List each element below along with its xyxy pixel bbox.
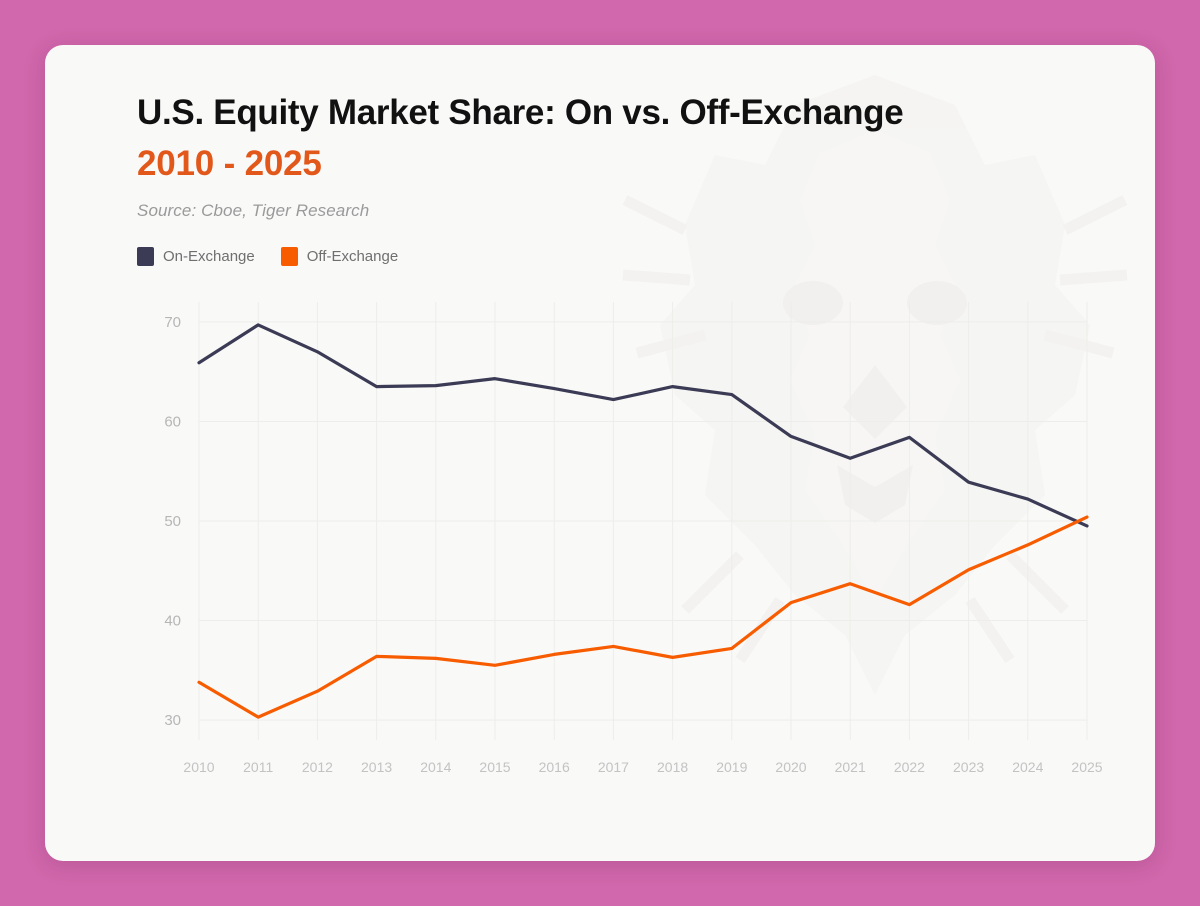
y-tick-label: 40 <box>164 612 181 629</box>
source-note: Source: Cboe, Tiger Research <box>137 201 1099 221</box>
chart-legend: On-Exchange Off-Exchange <box>137 247 1099 266</box>
legend-swatch-icon <box>137 247 154 266</box>
series-line-on-exchange[interactable] <box>199 325 1087 526</box>
x-tick-label: 2025 <box>1071 759 1102 775</box>
x-tick-label: 2022 <box>894 759 925 775</box>
x-tick-label: 2019 <box>716 759 747 775</box>
y-axis-tick-labels: 3040506070 <box>164 314 181 729</box>
x-tick-label: 2023 <box>953 759 984 775</box>
y-tick-label: 30 <box>164 712 181 729</box>
x-tick-label: 2020 <box>775 759 806 775</box>
legend-item-off-exchange[interactable]: Off-Exchange <box>281 247 398 266</box>
card-content: U.S. Equity Market Share: On vs. Off-Exc… <box>45 45 1155 861</box>
x-tick-label: 2014 <box>420 759 451 775</box>
legend-swatch-icon <box>281 247 298 266</box>
horizontal-gridlines <box>199 322 1087 720</box>
legend-label: On-Exchange <box>163 248 255 265</box>
x-tick-label: 2021 <box>835 759 866 775</box>
x-tick-label: 2016 <box>539 759 570 775</box>
x-tick-label: 2018 <box>657 759 688 775</box>
series-line-off-exchange[interactable] <box>199 517 1087 717</box>
y-tick-label: 60 <box>164 413 181 430</box>
page-subtitle: 2010 - 2025 <box>137 145 1099 184</box>
x-axis-tick-labels: 2010201120122013201420152016201720182019… <box>183 759 1102 775</box>
chart-card: U.S. Equity Market Share: On vs. Off-Exc… <box>45 45 1155 861</box>
y-tick-label: 70 <box>164 314 181 331</box>
line-chart: 3040506070 20102011201220132014201520162… <box>137 288 1097 788</box>
page-root: U.S. Equity Market Share: On vs. Off-Exc… <box>0 0 1200 906</box>
y-tick-label: 50 <box>164 513 181 530</box>
x-tick-label: 2024 <box>1012 759 1043 775</box>
x-tick-label: 2013 <box>361 759 392 775</box>
chart-plot-area: 3040506070 20102011201220132014201520162… <box>137 288 1097 788</box>
x-tick-label: 2010 <box>183 759 214 775</box>
legend-item-on-exchange[interactable]: On-Exchange <box>137 247 255 266</box>
x-tick-label: 2015 <box>479 759 510 775</box>
x-tick-label: 2012 <box>302 759 333 775</box>
x-tick-label: 2017 <box>598 759 629 775</box>
legend-label: Off-Exchange <box>307 248 398 265</box>
x-tick-label: 2011 <box>243 759 273 775</box>
page-title: U.S. Equity Market Share: On vs. Off-Exc… <box>137 93 1099 132</box>
